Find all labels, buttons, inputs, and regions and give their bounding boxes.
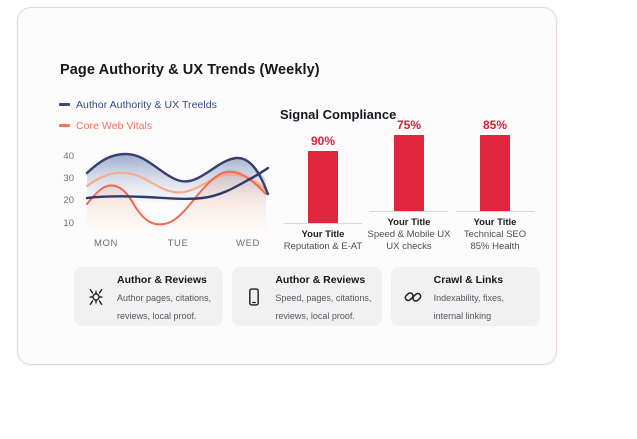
bar-rect[interactable] bbox=[308, 151, 338, 223]
chart-legend: Author Authority & UX Treelds Core Web V… bbox=[59, 96, 259, 138]
legend-swatch-icon bbox=[59, 103, 70, 106]
legend-swatch-icon bbox=[59, 124, 70, 127]
feature-card-description: Indexability, fixes, internal linking bbox=[434, 293, 504, 321]
bar-rect[interactable] bbox=[394, 135, 424, 211]
bar-column[interactable]: 85% Your Title Technical SEO 85% Health bbox=[452, 118, 538, 253]
trend-chart-svg: 40 30 20 10 MON TUE WED bbox=[56, 136, 281, 254]
person-icon bbox=[83, 284, 109, 310]
bar-subtitle: Technical SEO 85% Health bbox=[464, 229, 526, 253]
feature-card-speed-mobile[interactable]: Author & Reviews Speed, pages, citations… bbox=[232, 267, 381, 326]
y-tick-40: 40 bbox=[63, 151, 74, 162]
bar-title: Your Title bbox=[474, 217, 517, 228]
bar-value-label: 75% bbox=[397, 118, 421, 132]
mobile-phone-icon bbox=[241, 284, 267, 310]
bar-rect[interactable] bbox=[480, 135, 510, 211]
bar-value-label: 85% bbox=[483, 118, 507, 132]
bar-column[interactable]: 90% Your Title Reputation & E-AT bbox=[280, 118, 366, 253]
legend-item-author-authority[interactable]: Author Authority & UX Treelds bbox=[59, 96, 259, 113]
bar-value-label: 90% bbox=[311, 134, 335, 148]
feature-card-title: Crawl & Links bbox=[434, 274, 503, 286]
x-tick-mon: MON bbox=[94, 238, 118, 249]
bar-baseline bbox=[284, 223, 362, 224]
x-tick-wed: WED bbox=[236, 238, 260, 249]
feature-card-title: Author & Reviews bbox=[275, 274, 365, 286]
dashboard-panel: Page Authority & UX Trends (Weekly) Auth… bbox=[17, 7, 557, 365]
feature-card-title: Author & Reviews bbox=[117, 274, 207, 286]
feature-card-description: Speed, pages, citations, reviews, local … bbox=[275, 293, 371, 321]
bar-subtitle: Reputation & E-AT bbox=[284, 241, 363, 253]
y-tick-30: 30 bbox=[63, 173, 74, 184]
chain-link-icon bbox=[400, 284, 426, 310]
legend-label: Author Authority & UX Treelds bbox=[76, 99, 217, 111]
legend-item-core-web-vitals[interactable]: Core Web Vitals bbox=[59, 117, 259, 134]
y-tick-20: 20 bbox=[63, 195, 74, 206]
feature-card-description: Author pages, citations, reviews, local … bbox=[117, 293, 211, 321]
bar-column[interactable]: 75% Your Title Speed & Mobile UX UX chec… bbox=[366, 118, 452, 253]
bar-title: Your Title bbox=[388, 217, 431, 228]
y-tick-10: 10 bbox=[63, 218, 74, 229]
feature-card-list: Author & Reviews Author pages, citations… bbox=[74, 267, 540, 326]
x-tick-tue: TUE bbox=[168, 238, 189, 249]
trend-area-chart: 40 30 20 10 MON TUE WED bbox=[56, 136, 281, 254]
feature-card-author-reviews[interactable]: Author & Reviews Author pages, citations… bbox=[74, 267, 223, 326]
bar-title: Your Title bbox=[302, 229, 345, 240]
signal-compliance-bar-chart: 90% Your Title Reputation & E-AT 75% You… bbox=[280, 118, 538, 253]
feature-card-crawl-links[interactable]: Crawl & Links Indexability, fixes, inter… bbox=[391, 267, 540, 326]
bar-baseline bbox=[370, 211, 448, 212]
bar-subtitle: Speed & Mobile UX UX checks bbox=[368, 229, 451, 253]
page-title: Page Authority & UX Trends (Weekly) bbox=[60, 62, 320, 78]
bar-baseline bbox=[456, 211, 534, 212]
legend-label: Core Web Vitals bbox=[76, 120, 152, 132]
